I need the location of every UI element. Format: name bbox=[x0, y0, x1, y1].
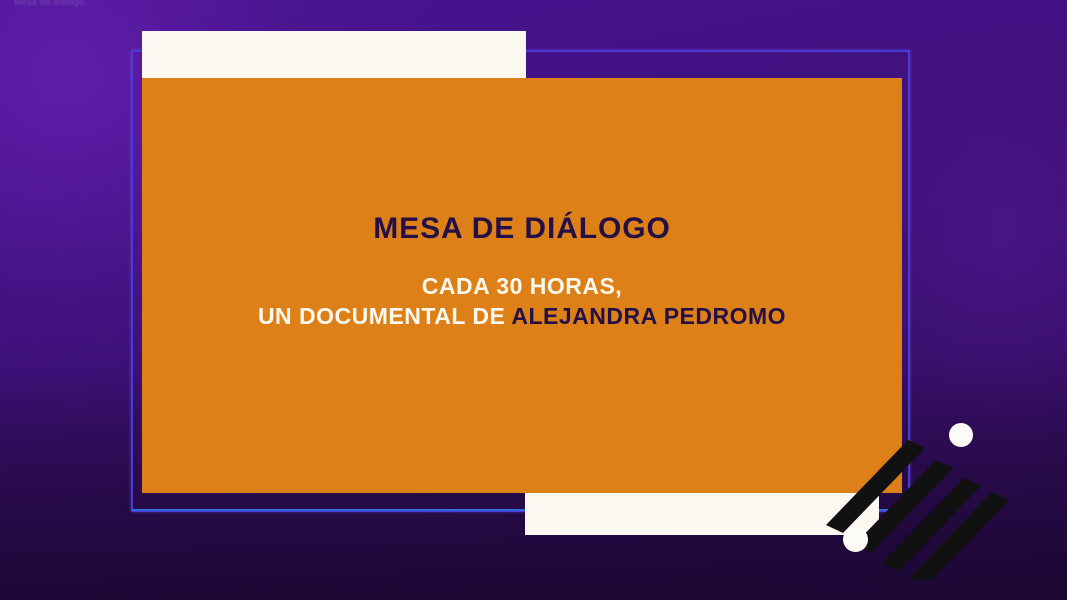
white-bar-bottom bbox=[525, 492, 879, 535]
subtitle-line-2-prefix: UN DOCUMENTAL DE bbox=[258, 303, 511, 329]
panel-text-block: MESA DE DIÁLOGO CADA 30 HORAS, UN DOCUME… bbox=[142, 212, 902, 332]
subtitle-line-1: CADA 30 HORAS, bbox=[142, 271, 902, 301]
page-title: MESA DE DIÁLOGO bbox=[142, 212, 902, 245]
subtitle-line-2-director-name: ALEJANDRA PEDROMO bbox=[511, 303, 786, 329]
decorative-dot-upper bbox=[949, 423, 973, 447]
white-bar-top bbox=[142, 31, 526, 79]
decorative-dot-lower bbox=[843, 527, 868, 552]
slide-canvas: Mesa de diálogo MESA DE DIÁLOGO CADA 30 … bbox=[0, 0, 1067, 600]
orange-content-panel: MESA DE DIÁLOGO CADA 30 HORAS, UN DOCUME… bbox=[142, 78, 902, 493]
subtitle-line-2: UN DOCUMENTAL DE ALEJANDRA PEDROMO bbox=[142, 301, 902, 331]
